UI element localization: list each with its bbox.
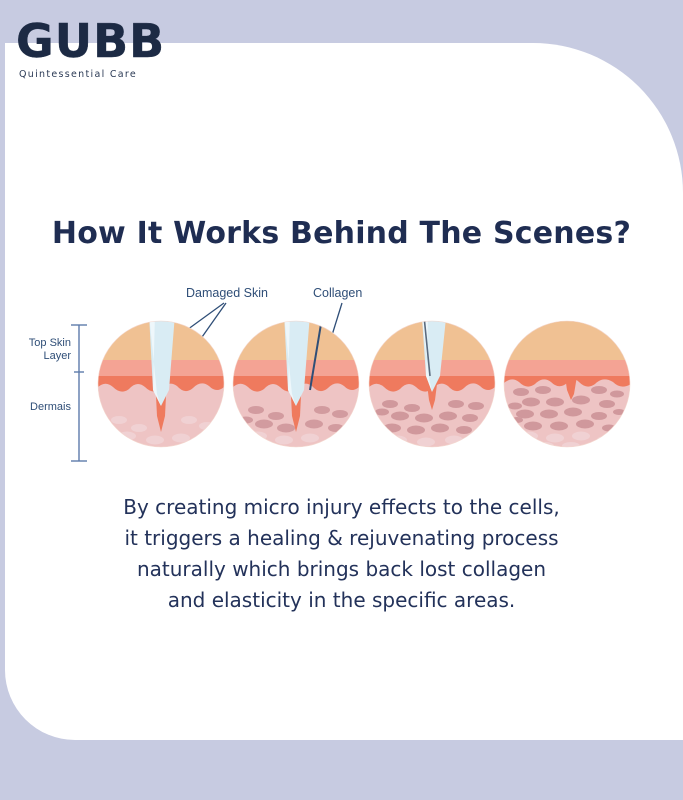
depth-axis — [71, 325, 87, 461]
skin-stage-2-illustration — [232, 320, 360, 448]
skin-stage-3 — [368, 320, 496, 448]
skin-stage-3-illustration — [368, 320, 496, 448]
skin-stage-2 — [232, 320, 360, 448]
brand-tagline: Quintessential Care — [19, 69, 216, 80]
skin-stage-4-illustration — [503, 320, 631, 448]
page-title: How It Works Behind The Scenes? — [0, 216, 683, 251]
poster-canvas: GUBB Quintessential Care How It Works Be… — [0, 0, 683, 800]
body-paragraph: By creating micro injury effects to the … — [0, 492, 683, 616]
skin-stage-4 — [503, 320, 631, 448]
body-line-1: By creating micro injury effects to the … — [0, 492, 683, 523]
brand-wordmark: GUBB — [16, 18, 216, 64]
skin-process-diagram: Damaged Skin Collagen Top Skin Layer Der… — [0, 275, 683, 475]
body-line-3: naturally which brings back lost collage… — [0, 554, 683, 585]
body-line-2: it triggers a healing & rejuvenating pro… — [0, 523, 683, 554]
skin-stage-1 — [97, 320, 225, 448]
brand-logo: GUBB Quintessential Care — [16, 18, 216, 80]
body-line-4: and elasticity in the specific areas. — [0, 585, 683, 616]
skin-stage-1-illustration — [97, 320, 225, 448]
